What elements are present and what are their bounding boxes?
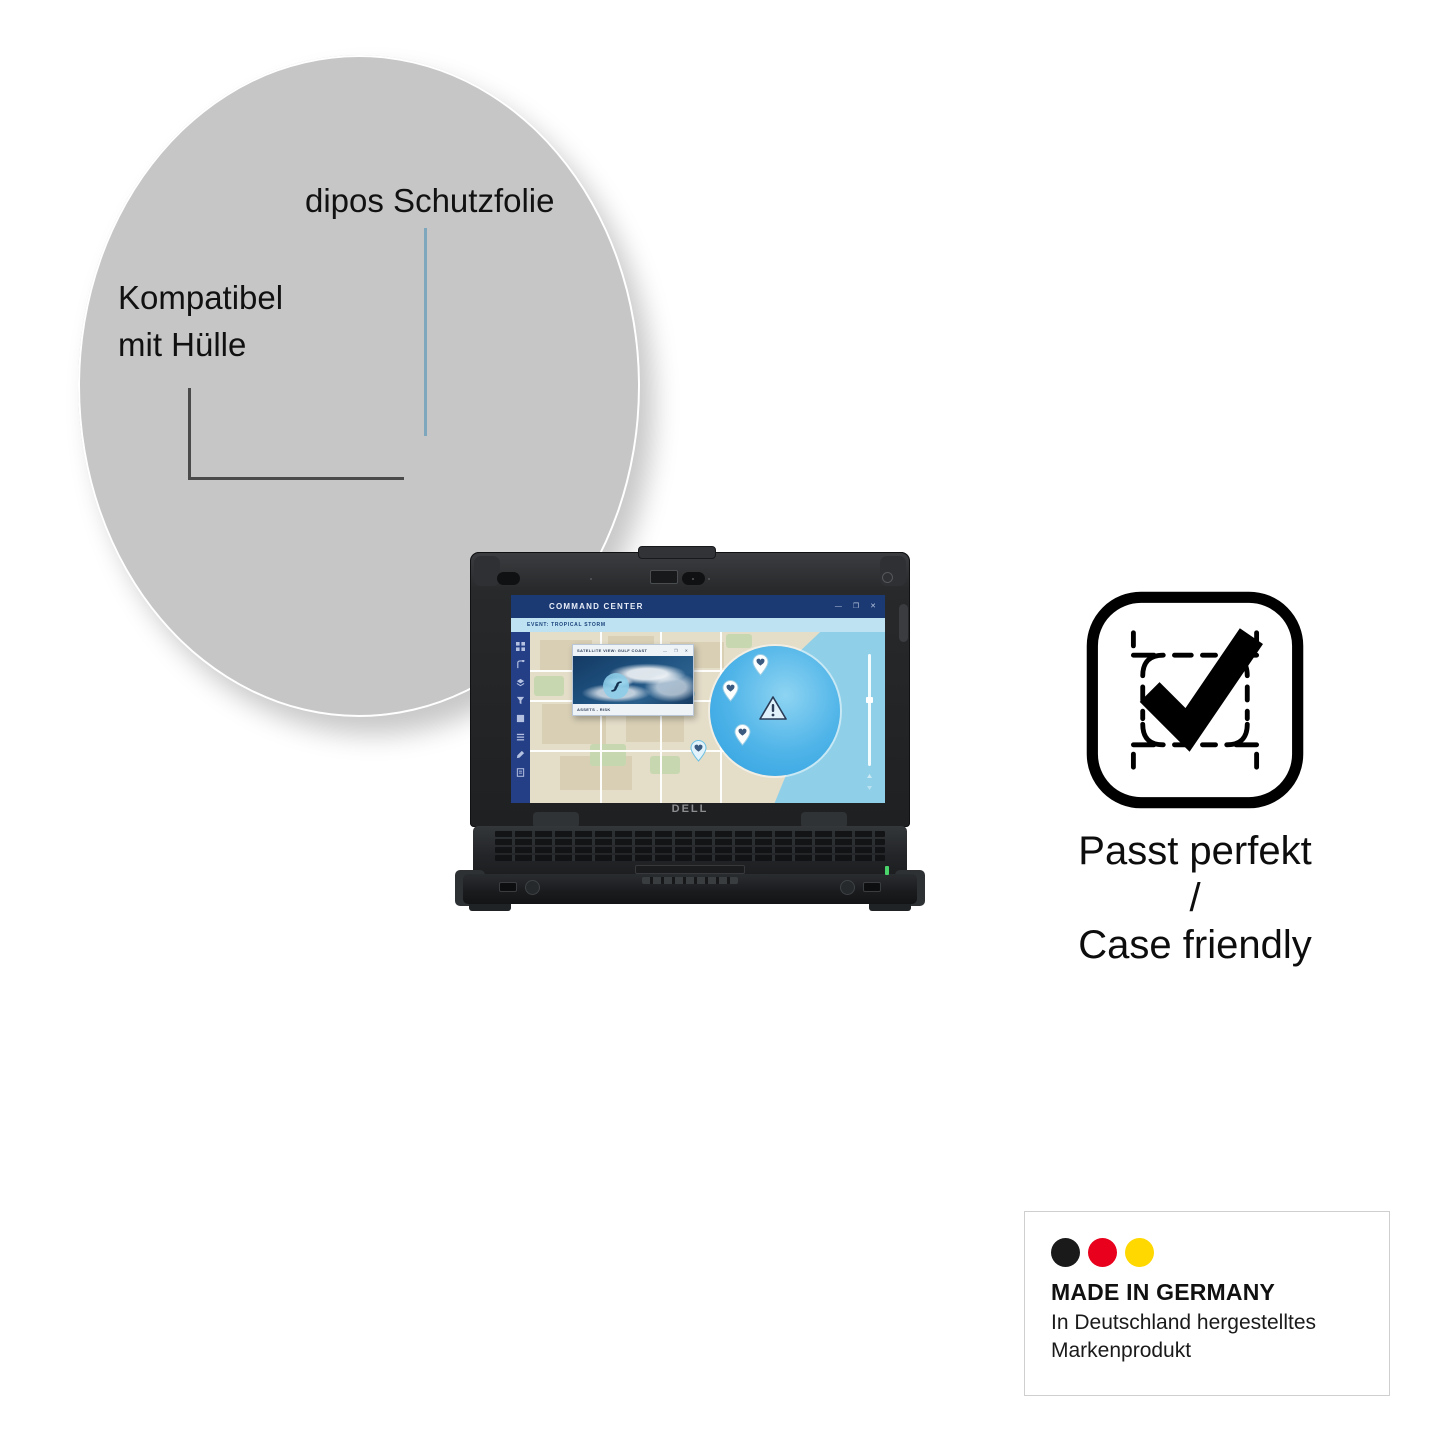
case-friendly-badge: Passt perfekt / Case friendly	[1075, 588, 1315, 940]
satellite-footer-text: ASSETS - RISK	[577, 707, 611, 712]
list-icon[interactable]	[516, 732, 525, 741]
microphone-dot	[692, 578, 694, 580]
made-in-germany-badge: MADE IN GERMANY In Deutschland hergestel…	[1024, 1211, 1390, 1396]
satellite-window-footer: ASSETS - RISK	[573, 704, 693, 715]
laptop-screen: COMMAND CENTER — ❐ ✕ EVENT: TROPICAL STO…	[511, 595, 885, 803]
medical-asset-pin[interactable]	[690, 740, 707, 762]
map-park	[650, 756, 680, 774]
satellite-minimize-button[interactable]: —	[663, 649, 667, 653]
keyboard-row	[495, 839, 885, 845]
port-right	[863, 882, 881, 892]
fit-check-icon	[1081, 588, 1309, 812]
case-compatible-line-2: mit Hülle	[118, 322, 283, 369]
map-zoom-slider[interactable]	[868, 654, 871, 766]
protective-film-leader-line	[424, 228, 427, 436]
laptop-lid: COMMAND CENTER — ❐ ✕ EVENT: TROPICAL STO…	[470, 552, 910, 827]
alert-banner-text: EVENT: TROPICAL STORM	[527, 622, 606, 628]
microphone-dot	[590, 578, 592, 580]
layers-icon[interactable]	[516, 678, 525, 687]
app-titlebar: COMMAND CENTER — ❐ ✕	[511, 595, 885, 618]
german-flag-dots	[1051, 1238, 1389, 1267]
map-park	[534, 676, 564, 696]
front-vent	[642, 877, 738, 884]
lid-latch	[638, 546, 716, 559]
maximize-button[interactable]: ❐	[853, 603, 859, 610]
grid-icon[interactable]	[516, 642, 525, 651]
medical-asset-pin[interactable]	[722, 680, 739, 702]
power-led-indicator	[885, 866, 889, 875]
pin-icon[interactable]	[516, 750, 525, 759]
map-zoom-slider-handle[interactable]	[866, 697, 873, 703]
lid-bumper-left	[497, 572, 520, 585]
flag-dot-black	[1051, 1238, 1080, 1267]
port-latch-right[interactable]	[840, 880, 855, 895]
microphone-dot	[708, 578, 710, 580]
window-controls: — ❐ ✕	[835, 603, 876, 610]
satellite-close-button[interactable]: ✕	[685, 649, 688, 653]
report-icon[interactable]	[516, 768, 525, 777]
keyboard[interactable]	[473, 826, 907, 878]
power-button[interactable]	[882, 572, 893, 583]
hurricane-glyph	[608, 678, 625, 695]
touchpad[interactable]	[635, 865, 745, 874]
compass-icon[interactable]	[864, 773, 875, 791]
close-button[interactable]: ✕	[870, 603, 876, 610]
webcam-icon	[650, 570, 678, 584]
flag-dot-red	[1088, 1238, 1117, 1267]
satellite-window-title: SATELLITE VIEW: GULF COAST	[577, 648, 647, 653]
keyboard-row	[495, 847, 885, 853]
warning-triangle-icon[interactable]	[758, 694, 788, 722]
route-icon[interactable]	[516, 660, 525, 669]
rugged-laptop: COMMAND CENTER — ❐ ✕ EVENT: TROPICAL STO…	[455, 552, 925, 912]
base-foot-right	[869, 904, 911, 911]
app-title: COMMAND CENTER	[549, 602, 644, 611]
map-canvas[interactable]: SATELLITE VIEW: GULF COAST — ❐ ✕	[530, 632, 885, 803]
minimize-button[interactable]: —	[835, 603, 842, 610]
satellite-imagery	[573, 656, 693, 706]
port-latch-left[interactable]	[525, 880, 540, 895]
map-park	[726, 634, 752, 648]
map-park	[590, 744, 626, 766]
satellite-window-titlebar: SATELLITE VIEW: GULF COAST — ❐ ✕	[573, 645, 693, 656]
protective-film-label: dipos Schutzfolie	[305, 178, 554, 225]
keyboard-row	[495, 855, 885, 861]
port-left	[499, 882, 517, 892]
made-in-germany-subtitle: In Deutschland hergestelltes Markenprodu…	[1051, 1309, 1389, 1365]
base-foot-left	[469, 904, 511, 911]
panel-icon[interactable]	[516, 714, 525, 723]
medical-asset-pin[interactable]	[734, 724, 751, 746]
laptop-base: DELL	[455, 820, 925, 912]
case-friendly-label: Passt perfekt / Case friendly	[1075, 828, 1315, 968]
satellite-view-window[interactable]: SATELLITE VIEW: GULF COAST — ❐ ✕	[572, 644, 694, 716]
alert-banner: EVENT: TROPICAL STORM	[511, 618, 885, 632]
made-in-germany-title: MADE IN GERMANY	[1051, 1279, 1389, 1306]
case-compatible-bracket-line	[188, 388, 404, 480]
satellite-window-controls: — ❐ ✕	[663, 649, 688, 653]
lid-side-grip	[899, 604, 908, 642]
brand-logo: DELL	[672, 803, 709, 815]
lid-corner-bumper-left	[474, 556, 500, 586]
case-compatible-line-1: Kompatibel	[118, 275, 283, 322]
medical-asset-pin[interactable]	[752, 654, 769, 676]
flag-dot-yellow	[1125, 1238, 1154, 1267]
satellite-maximize-button[interactable]: ❐	[674, 649, 678, 653]
filter-icon[interactable]	[516, 696, 525, 705]
hurricane-icon	[603, 673, 629, 699]
app-sidebar	[511, 632, 530, 803]
case-compatible-label: Kompatibel mit Hülle	[118, 275, 283, 369]
keyboard-row	[495, 831, 885, 837]
